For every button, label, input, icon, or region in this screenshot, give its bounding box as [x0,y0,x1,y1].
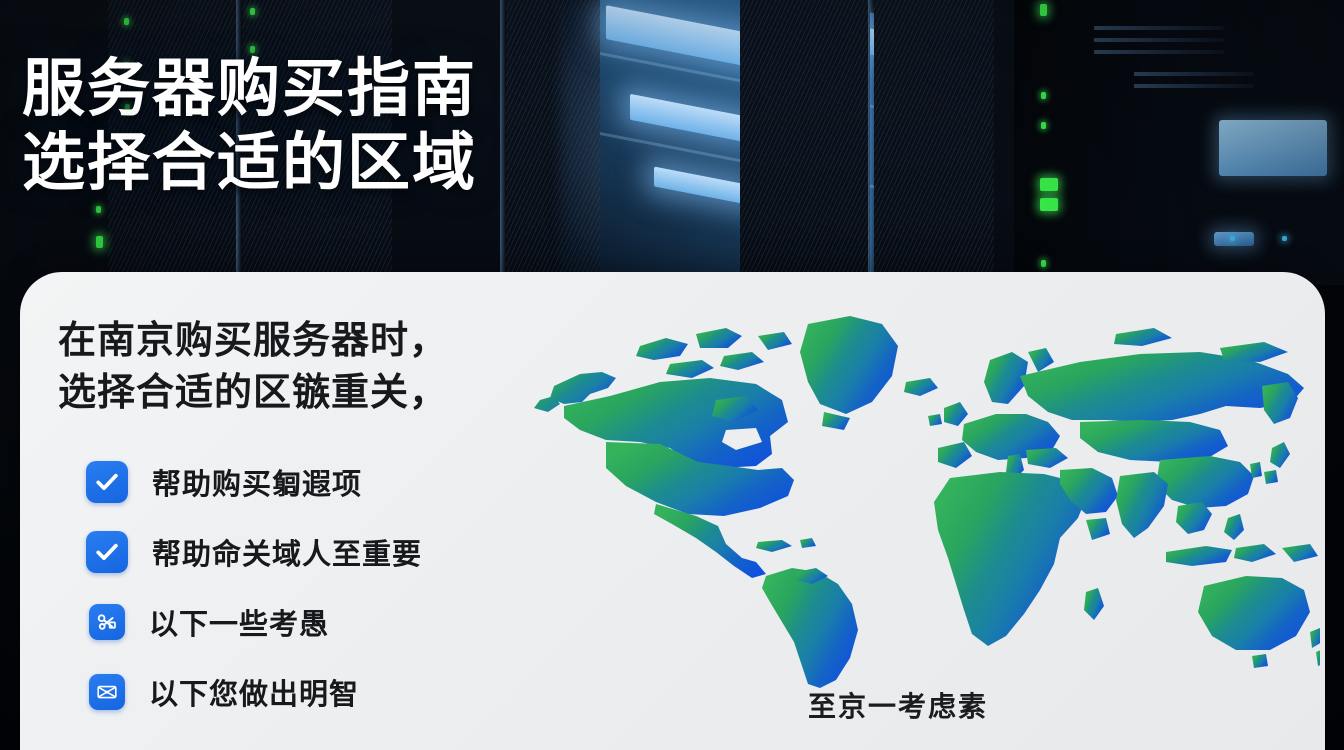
scissors-icon[interactable] [89,604,125,640]
checkbox-checked-icon[interactable] [86,531,128,573]
list-item[interactable]: 以下您做出明智 [58,657,578,727]
list-item[interactable]: 帮助购买匔遐项 [58,447,578,517]
lead-line-2: 选择合适的区镞重关， [58,368,578,420]
list-item-label: 帮助购买匔遐项 [152,461,362,503]
list-item-label: 以下您做出明智 [149,671,359,713]
bullet-list: 帮助购买匔遐项 帮助命关域人至重要 [58,447,578,727]
page-title: 服务器购买指南 选择合适的区域 [22,52,477,201]
content-card: 在南京购买服务器时， 选择合适的区镞重关， 帮助购买匔遐项 帮助命关域人至重要 [20,272,1325,750]
map-caption: 至京一考虑素 [808,685,988,725]
card-text-column: 在南京购买服务器时， 选择合适的区镞重关， 帮助购买匔遐项 帮助命关域人至重要 [58,316,578,727]
list-item[interactable]: 以下一些考愚 [58,587,578,657]
title-line-2: 选择合适的区域 [22,126,477,200]
lead-line-1: 在南京购买服务器时， [58,316,578,368]
world-map [520,290,1320,690]
checkbox-checked-icon[interactable] [86,461,128,503]
list-item-label: 以下一些考愚 [149,601,329,643]
shuffle-icon[interactable] [89,674,125,710]
list-item[interactable]: 帮助命关域人至重要 [58,517,578,587]
title-line-1: 服务器购买指南 [22,52,477,126]
list-item-label: 帮助命关域人至重要 [152,531,422,573]
